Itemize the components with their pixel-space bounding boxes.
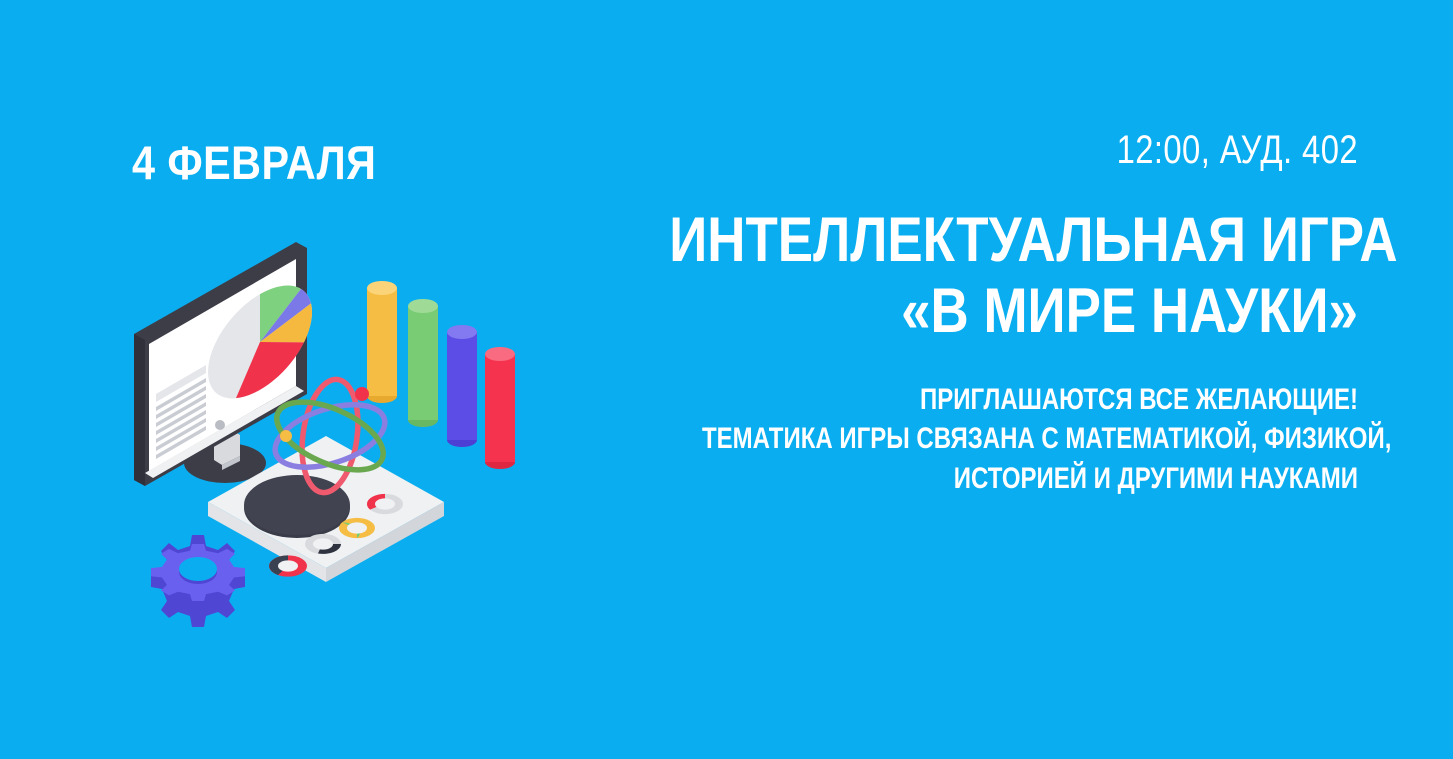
donut-2	[339, 518, 375, 538]
poster-canvas: 4 ФЕВРАЛЯ	[0, 0, 1453, 759]
description-line-3: ИСТОРИЕЙ И ДРУГИМИ НАУКАМИ	[702, 459, 1358, 499]
poster-description: ПРИГЛАШАЮТСЯ ВСЕ ЖЕЛАЮЩИЕ! ТЕМАТИКА ИГРЫ…	[538, 380, 1358, 499]
description-line-1: ПРИГЛАШАЮТСЯ ВСЕ ЖЕЛАЮЩИЕ!	[702, 380, 1358, 420]
science-illustration	[120, 218, 540, 638]
poster-title-line-1: ИНТЕЛЛЕКТУАЛЬНАЯ ИГРА	[669, 208, 1358, 273]
donut-4	[269, 555, 307, 576]
donut-1	[367, 494, 403, 514]
poster-text-column: 12:00, АУД. 402 ИНТЕЛЛЕКТУАЛЬНАЯ ИГРА «В…	[538, 130, 1358, 499]
description-line-2: ТЕМАТИКА ИГРЫ СВЯЗАНА С МАТЕМАТИКОЙ, ФИЗ…	[702, 419, 1358, 459]
bar-3	[447, 325, 477, 447]
event-time-room: 12:00, АУД. 402	[686, 130, 1358, 170]
bar-2	[408, 299, 438, 427]
atom-dot-red	[355, 387, 369, 401]
poster-title-line-2: «В МИРЕ НАУКИ»	[669, 279, 1358, 344]
donut-3	[305, 534, 341, 554]
monitor-icon	[134, 242, 312, 486]
bar-chart	[367, 281, 515, 469]
atom-dot-yellow	[280, 430, 292, 442]
bar-1	[367, 281, 397, 403]
event-date: 4 ФЕВРАЛЯ	[132, 139, 376, 186]
gear-icon	[151, 535, 245, 627]
bar-4	[485, 347, 515, 469]
